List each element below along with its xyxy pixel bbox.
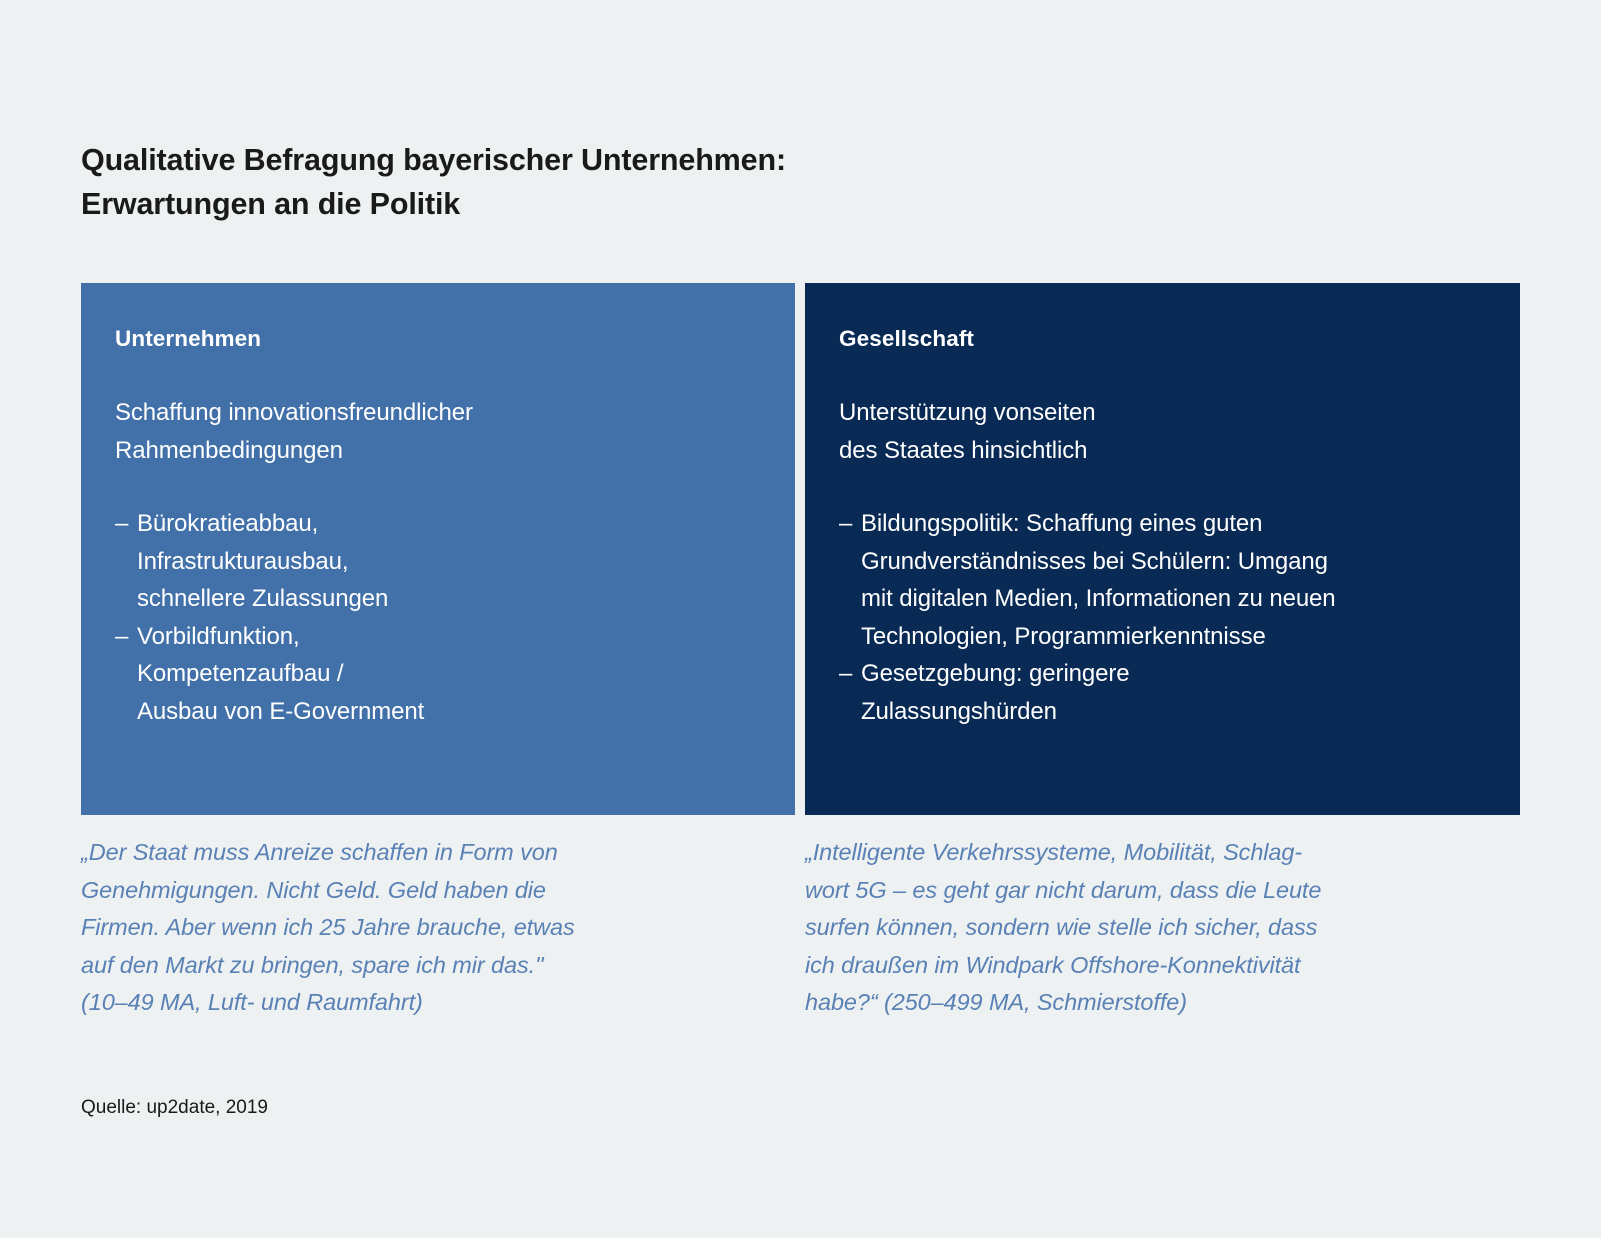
bullet-dash-icon: – <box>839 655 852 693</box>
panel-unternehmen-intro: Schaffung innovationsfreundlicher Rahmen… <box>115 394 761 469</box>
panel-gesellschaft-bullet-list: – Bildungspolitik: Schaffung eines guten… <box>839 505 1486 730</box>
quote-line: wort 5G – es geht gar nicht darum, dass … <box>805 872 1520 910</box>
quote-line: surfen können, sondern wie stelle ich si… <box>805 909 1520 947</box>
bullet-line: Grundverständnisses bei Schülern: Umgang <box>861 543 1486 581</box>
quote-line: „Der Staat muss Anreize schaffen in Form… <box>81 834 795 872</box>
panel-gesellschaft-intro: Unterstützung vonseiten des Staates hins… <box>839 394 1486 469</box>
panel-unternehmen-heading: Unternehmen <box>115 324 761 354</box>
bullet-line: Kompetenzaufbau / <box>137 655 761 693</box>
page-title-line-2: Erwartungen an die Politik <box>81 182 1181 226</box>
quote-line: auf den Markt zu bringen, spare ich mir … <box>81 947 795 985</box>
panel-gesellschaft: Gesellschaft Unterstützung vonseiten des… <box>805 283 1520 815</box>
panel-gesellschaft-heading: Gesellschaft <box>839 324 1486 354</box>
quote-unternehmen: „Der Staat muss Anreize schaffen in Form… <box>81 834 795 1022</box>
panel-unternehmen-intro-line-1: Schaffung innovationsfreundlicher <box>115 394 761 432</box>
bullet-dash-icon: – <box>839 505 852 543</box>
panel-gesellschaft-intro-line-2: des Staates hinsichtlich <box>839 432 1486 470</box>
bullet-line: Vorbildfunktion, <box>137 618 761 656</box>
bullet-line: schnellere Zulassungen <box>137 580 761 618</box>
quote-line: „Intelligente Verkehrssysteme, Mobilität… <box>805 834 1520 872</box>
bullet-line: Ausbau von E-Government <box>137 693 761 731</box>
bullet-dash-icon: – <box>115 618 128 656</box>
quote-line: Genehmigungen. Nicht Geld. Geld haben di… <box>81 872 795 910</box>
infographic-page: Qualitative Befragung bayerischer Untern… <box>0 0 1601 1238</box>
quote-line: ich draußen im Windpark Offshore-Konnekt… <box>805 947 1520 985</box>
panel-unternehmen-intro-line-2: Rahmenbedingungen <box>115 432 761 470</box>
panels-container: Unternehmen Schaffung innovationsfreundl… <box>81 283 1520 815</box>
bullet-item: – Bildungspolitik: Schaffung eines guten… <box>839 505 1486 655</box>
bullet-item: – Vorbildfunktion, Kompetenzaufbau / Aus… <box>115 618 761 731</box>
source-note: Quelle: up2date, 2019 <box>81 1094 268 1122</box>
bullet-item: – Gesetzgebung: geringere Zulassungshürd… <box>839 655 1486 730</box>
bullet-dash-icon: – <box>115 505 128 543</box>
page-title-line-1: Qualitative Befragung bayerischer Untern… <box>81 138 1181 182</box>
bullet-line: Technologien, Programmierkenntnisse <box>861 618 1486 656</box>
panel-gesellschaft-intro-line-1: Unterstützung vonseiten <box>839 394 1486 432</box>
quote-attribution: (10–49 MA, Luft- und Raumfahrt) <box>81 984 795 1022</box>
panel-unternehmen: Unternehmen Schaffung innovationsfreundl… <box>81 283 795 815</box>
bullet-line: Bildungspolitik: Schaffung eines guten <box>861 505 1486 543</box>
bullet-item: – Bürokratieabbau, Infrastrukturausbau, … <box>115 505 761 618</box>
bullet-line: Zulassungshürden <box>861 693 1486 731</box>
bullet-line: Infrastrukturausbau, <box>137 543 761 581</box>
bullet-line: Gesetzgebung: geringere <box>861 655 1486 693</box>
quote-line: Firmen. Aber wenn ich 25 Jahre brauche, … <box>81 909 795 947</box>
panel-unternehmen-bullet-list: – Bürokratieabbau, Infrastrukturausbau, … <box>115 505 761 730</box>
quote-gesellschaft: „Intelligente Verkehrssysteme, Mobilität… <box>805 834 1520 1022</box>
quote-attribution: habe?“ (250–499 MA, Schmierstoffe) <box>805 984 1520 1022</box>
bullet-line: Bürokratieabbau, <box>137 505 761 543</box>
page-title: Qualitative Befragung bayerischer Untern… <box>81 138 1181 226</box>
bullet-line: mit digitalen Medien, Informationen zu n… <box>861 580 1486 618</box>
